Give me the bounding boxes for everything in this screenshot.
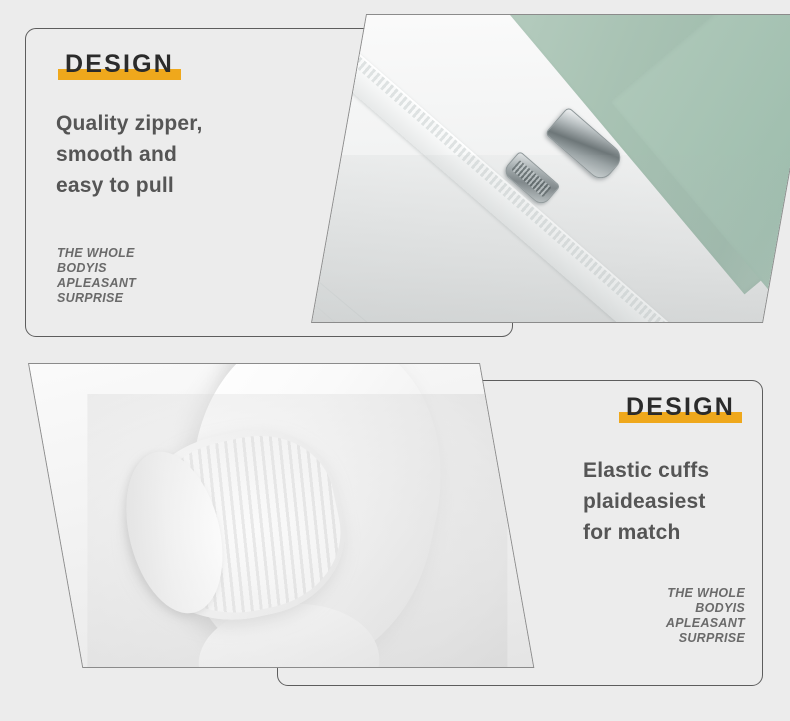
headline-cuff: Elastic cuffs plaideasiest for match — [583, 455, 763, 548]
eyebrow-design-top: DESIGN — [65, 52, 174, 77]
fabric-fold-shadow — [311, 155, 790, 323]
product-detail-page: DESIGN Quality zipper, smooth and easy t… — [0, 0, 790, 721]
tagline-line: THE WHOLE — [57, 246, 257, 261]
headline-line: plaideasiest — [583, 486, 763, 517]
tagline-line: BODYIS — [57, 261, 257, 276]
tagline-line: THE WHOLE — [540, 586, 745, 601]
zipper-photo — [311, 14, 790, 323]
cuff-photo-background — [28, 363, 534, 668]
cuff-soft-shadow — [87, 394, 507, 668]
tagline-line: APLEASANT — [57, 276, 257, 291]
tagline-cuff: THE WHOLE BODYIS APLEASANT SURPRISE — [540, 586, 745, 646]
headline-line: for match — [583, 517, 763, 548]
tagline-line: BODYIS — [540, 601, 745, 616]
tagline-line: SURPRISE — [57, 291, 257, 306]
headline-line: easy to pull — [56, 170, 286, 201]
headline-line: Elastic cuffs — [583, 455, 763, 486]
zipper-photo-artwork — [311, 14, 790, 323]
eyebrow-design-bottom: DESIGN — [626, 395, 735, 420]
headline-line: Quality zipper, — [56, 108, 286, 139]
cuff-photo-artwork — [28, 363, 534, 668]
headline-zipper: Quality zipper, smooth and easy to pull — [56, 108, 286, 201]
tagline-line: SURPRISE — [540, 631, 745, 646]
tagline-zipper: THE WHOLE BODYIS APLEASANT SURPRISE — [57, 246, 257, 306]
eyebrow-label: DESIGN — [626, 393, 735, 421]
zipper-photo-background — [311, 14, 790, 323]
tagline-line: APLEASANT — [540, 616, 745, 631]
headline-line: smooth and — [56, 139, 286, 170]
cuff-photo — [28, 363, 534, 668]
eyebrow-label: DESIGN — [65, 50, 174, 78]
